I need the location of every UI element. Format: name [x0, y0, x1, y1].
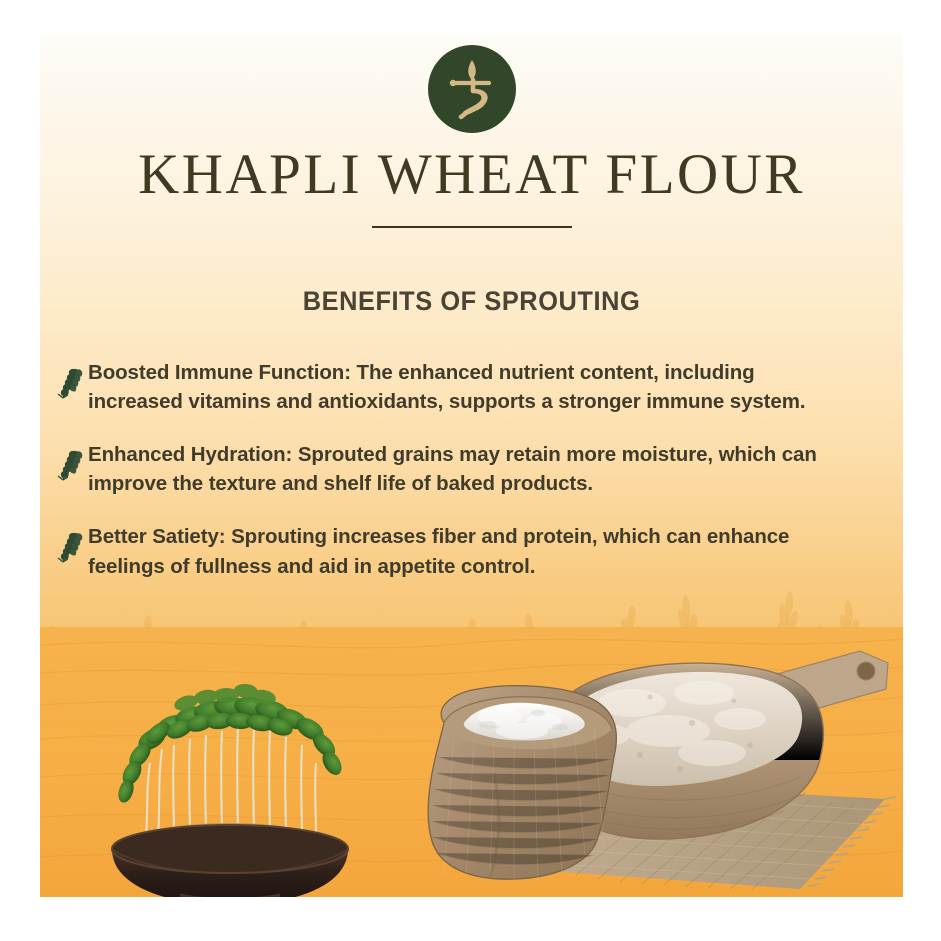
- product-photo: [40, 627, 903, 897]
- list-item-text: Enhanced Hydration: Sprouted grains may …: [88, 440, 844, 498]
- wheat-stalk-icon: [54, 526, 88, 566]
- product-photo-illustration: [40, 627, 903, 897]
- poster-canvas: KHAPLI WHEAT FLOUR BENEFITS OF SPROUTING: [40, 33, 903, 897]
- burlap-sack-of-flour: [428, 686, 616, 881]
- list-item-text: Boosted Immune Function: The enhanced nu…: [88, 358, 844, 416]
- logo-circle: [428, 45, 516, 133]
- wheat-stalk-icon: [54, 362, 88, 402]
- title-divider: [372, 226, 572, 228]
- list-item: Better Satiety: Sprouting increases fibe…: [54, 522, 844, 580]
- sprout-r-monogram-icon: [442, 56, 502, 122]
- page-title: KHAPLI WHEAT FLOUR: [40, 142, 903, 207]
- benefits-list: Boosted Immune Function: The enhanced nu…: [54, 358, 844, 605]
- list-item: Enhanced Hydration: Sprouted grains may …: [54, 440, 844, 498]
- brand-logo: [40, 45, 903, 133]
- section-subtitle: BENEFITS OF SPROUTING: [66, 286, 877, 317]
- list-item-text: Better Satiety: Sprouting increases fibe…: [88, 522, 844, 580]
- wheat-stalk-icon: [54, 444, 88, 484]
- list-item: Boosted Immune Function: The enhanced nu…: [54, 358, 844, 416]
